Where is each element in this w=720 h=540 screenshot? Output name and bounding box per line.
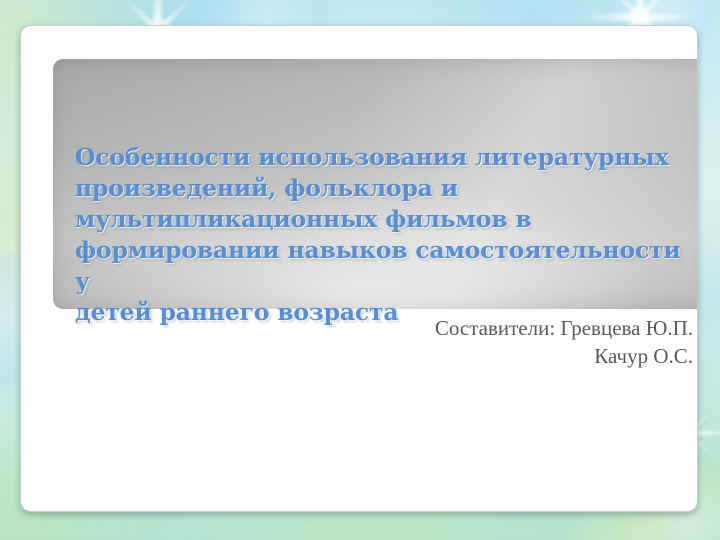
slide-authors: Составители: Гревцева Ю.П. Качур О.С. xyxy=(261,314,693,370)
presentation-slide: Особенности использования литературных п… xyxy=(0,0,720,540)
slide-content-card: Особенности использования литературных п… xyxy=(20,25,698,512)
page-title: Особенности использования литературных п… xyxy=(75,142,695,328)
